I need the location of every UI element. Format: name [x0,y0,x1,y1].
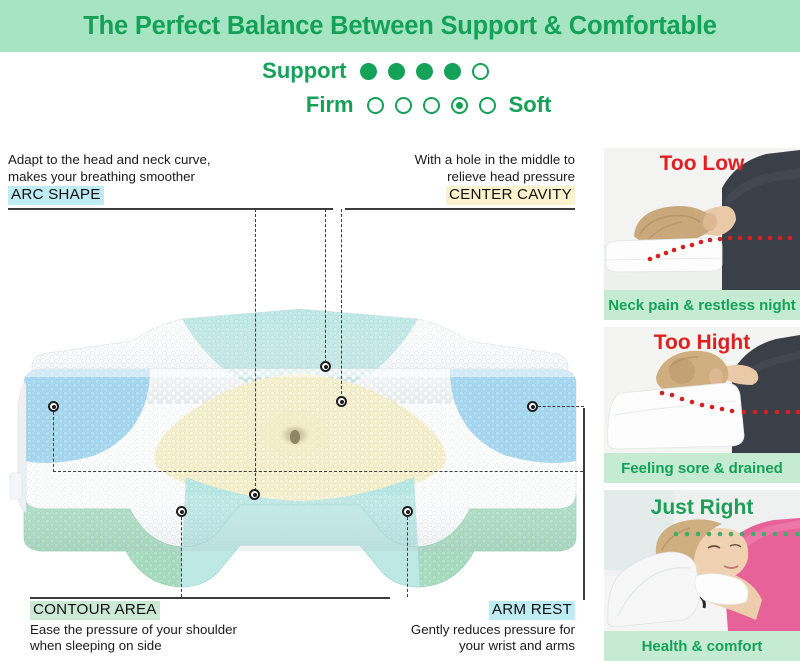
leader-center-cavity [341,209,342,399]
pillow-svg [0,255,600,600]
leader-arm-left-horizontal [53,471,583,472]
support-dot-1 [360,63,377,80]
annotation-center-cavity: With a hole in the middle to relieve hea… [300,152,575,205]
firm-label: Firm [249,92,367,118]
soft-label: Soft [496,92,552,118]
just-right-title: Just Right [604,496,800,520]
rule-center-cavity [345,208,575,210]
too-low-title: Too Low [604,152,800,176]
leader-arc-shape-a [255,209,256,491]
leader-contour-left [181,517,182,597]
brand-tag [10,473,22,499]
firmness-dot-4-selected [451,97,468,114]
header-banner: The Perfect Balance Between Support & Co… [0,0,800,52]
support-dot-4 [444,63,461,80]
too-high-caption: Feeling sore & drained [604,453,800,483]
callout-dot-contour-right [402,506,413,517]
pillow-contour-front [24,495,576,587]
center-cavity-tag: CENTER CAVITY [446,186,575,205]
infographic-page: The Perfect Balance Between Support & Co… [0,0,800,661]
rating-block: Support Firm Soft [0,54,800,132]
support-dot-3 [416,63,433,80]
annotation-arm-rest: ARM REST Gently reduces pressure for you… [300,600,575,655]
support-dots [360,63,489,80]
too-high-photo: Too Hight [604,327,800,453]
just-right-photo: Just Right [604,490,800,631]
firmness-dot-5 [479,97,496,114]
callout-dot-contour-left [176,506,187,517]
support-rating-row: Support [0,54,800,88]
pillow-side-seam [10,383,26,513]
callout-dot-arm-rest-right [527,401,538,412]
callout-dot-arm-rest-left [48,401,59,412]
too-low-caption: Neck pain & restless night [604,290,800,320]
too-low-photo: Too Low [604,148,800,290]
annotation-contour-area: CONTOUR AREA Ease the pressure of your s… [30,600,330,655]
contour-area-description: Ease the pressure of your shoulder when … [30,622,330,655]
contour-area-tag: CONTOUR AREA [30,601,160,620]
arm-rest-tag: ARM REST [489,601,575,620]
just-right-caption: Health & comfort [604,631,800,661]
leader-arm-right-horizontal [538,406,584,407]
callout-dot-center-cavity [336,396,347,407]
comparison-panel-too-low: Too Low Neck pain & restless night [604,148,800,320]
callout-dot-neck-recess [249,489,260,500]
center-cavity-description: With a hole in the middle to relieve hea… [300,152,575,185]
arc-shape-description: Adapt to the head and neck curve, makes … [8,152,288,185]
arc-shape-tag: ARC SHAPE [8,186,104,205]
firmness-dots [367,97,496,114]
annotation-arc-shape: Adapt to the head and neck curve, makes … [8,152,288,205]
leader-arc-shape-b [325,209,326,363]
comparison-panel-just-right: Just Right Health & comfort [604,490,800,661]
firmness-dot-1 [367,97,384,114]
product-illustration [0,255,600,600]
center-hole [261,411,329,455]
firmness-rating-row: Firm Soft [0,88,800,122]
page-title: The Perfect Balance Between Support & Co… [83,12,717,41]
comparison-panel-too-high: Too Hight Feeling sore & drained [604,327,800,483]
support-label: Support [242,58,360,84]
rule-arc-shape [8,208,333,210]
too-high-title: Too Hight [604,331,800,355]
leader-contour-right [407,517,408,597]
firmness-dot-2 [395,97,412,114]
arm-rest-description: Gently reduces pressure for your wrist a… [300,622,575,655]
leader-arm-left-vertical [53,412,54,472]
support-dot-5 [472,63,489,80]
support-dot-2 [388,63,405,80]
firmness-dot-3 [423,97,440,114]
callout-dot-arc-shape [320,361,331,372]
